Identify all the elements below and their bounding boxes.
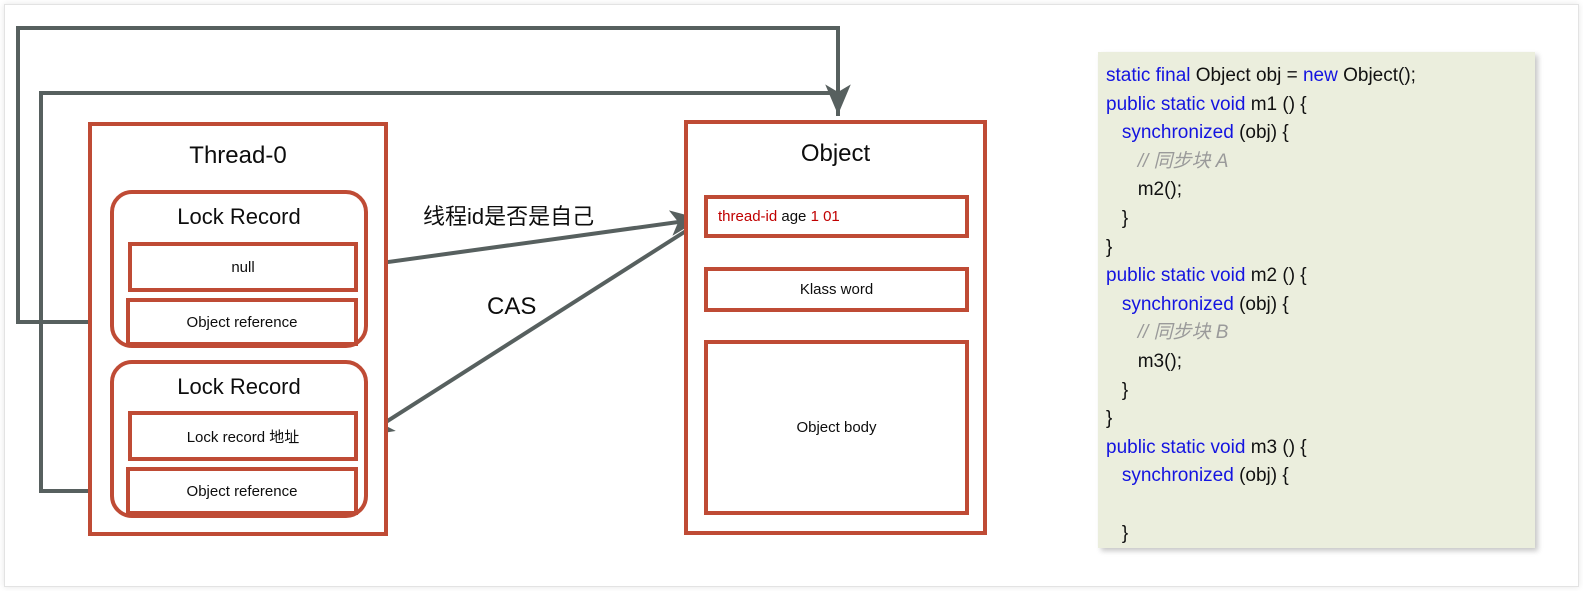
code-token: (obj) { <box>1239 294 1289 315</box>
code-token: new <box>1303 65 1343 86</box>
code-line-l1: static final Object obj = new Object(); <box>1106 62 1535 91</box>
code-token: synchronized <box>1122 122 1239 143</box>
object-klass-word-slot: Klass word <box>704 267 969 312</box>
code-line-l12: } <box>1106 377 1535 406</box>
code-token: } <box>1122 208 1128 229</box>
thread-box-title: Thread-0 <box>92 142 384 170</box>
code-token: } <box>1106 408 1112 429</box>
code-token: } <box>1106 237 1112 258</box>
lock-record-1-slot-displaced-markword: null <box>128 242 358 292</box>
code-token: m1 () { <box>1251 94 1307 115</box>
code-line-l6: } <box>1106 205 1535 234</box>
code-token: synchronized <box>1122 465 1239 486</box>
code-token: public static void <box>1106 437 1251 458</box>
code-token: synchronized <box>1122 294 1239 315</box>
connector-markword-to-lockrecord <box>364 222 700 436</box>
code-line-l11: m3(); <box>1106 348 1535 377</box>
code-line-l8: public static void m2 () { <box>1106 262 1535 291</box>
code-token: } <box>1122 523 1128 544</box>
code-token <box>1106 494 1111 515</box>
code-line-l15: synchronized (obj) { <box>1106 462 1535 491</box>
code-line-l5: m2(); <box>1106 176 1535 205</box>
code-token: // 同步块 A <box>1138 151 1229 172</box>
code-line-l13: } <box>1106 405 1535 434</box>
object-box-title: Object <box>688 140 983 168</box>
object-body-slot: Object body <box>704 340 969 515</box>
code-line-l17: } <box>1106 520 1535 549</box>
code-token: Object(); <box>1343 65 1416 86</box>
code-line-l3: synchronized (obj) { <box>1106 119 1535 148</box>
code-line-l4: // 同步块 A <box>1106 148 1535 177</box>
code-token: m3 () { <box>1251 437 1307 458</box>
code-line-l7: } <box>1106 234 1535 263</box>
code-token: static final <box>1106 65 1196 86</box>
mark-word-lock-bits: 01 <box>823 208 840 225</box>
code-line-l14: public static void m3 () { <box>1106 434 1535 463</box>
lock-record-2-slot-lock-record-address: Lock record 地址 <box>128 411 358 461</box>
code-token: (obj) { <box>1239 465 1289 486</box>
lock-record-2-slot-object-reference: Object reference <box>126 467 358 515</box>
code-token: (obj) { <box>1239 122 1289 143</box>
mark-word-thread-id: thread-id <box>718 208 777 225</box>
lock-record-2-title: Lock Record <box>114 374 364 400</box>
code-token: // 同步块 B <box>1138 322 1229 343</box>
code-token: } <box>1122 380 1128 401</box>
mark-word-biased-bit: 1 <box>811 208 819 225</box>
code-token: m3(); <box>1138 351 1182 372</box>
code-token: m2 () { <box>1251 265 1307 286</box>
code-token: m2(); <box>1138 179 1182 200</box>
edge-label-check-thread-id: 线程id是否是自己 <box>423 199 594 231</box>
code-line-l16 <box>1106 491 1535 520</box>
code-line-l9: synchronized (obj) { <box>1106 291 1535 320</box>
edge-label-cas: CAS <box>487 293 536 321</box>
lock-record-1-title: Lock Record <box>114 204 364 230</box>
code-line-l10: // 同步块 B <box>1106 319 1535 348</box>
mark-word-age: age <box>781 208 806 225</box>
diagram-page: Thread-0 Lock Record null Object referen… <box>0 0 1583 591</box>
object-mark-word-slot: thread-id age 1 01 <box>704 195 969 238</box>
code-token: public static void <box>1106 94 1251 115</box>
lock-record-1-slot-object-reference: Object reference <box>126 298 358 346</box>
code-panel: static final Object obj = new Object();p… <box>1098 52 1535 548</box>
diagram-canvas: Thread-0 Lock Record null Object referen… <box>0 0 1583 591</box>
code-token: Object obj = <box>1196 65 1303 86</box>
code-token: public static void <box>1106 265 1251 286</box>
code-line-l2: public static void m1 () { <box>1106 91 1535 120</box>
